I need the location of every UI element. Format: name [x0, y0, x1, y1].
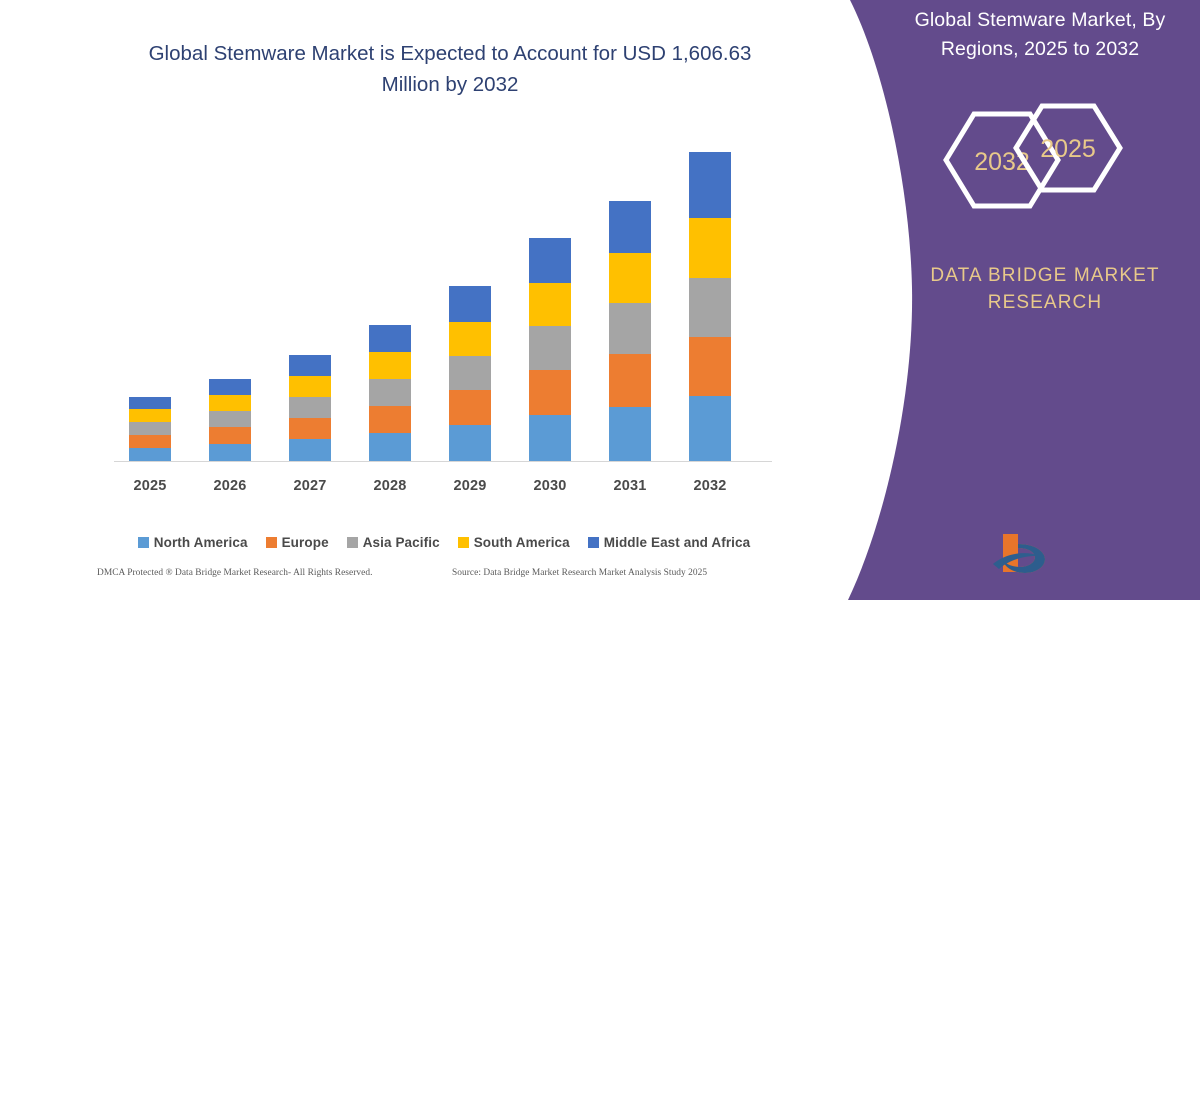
bar-2028[interactable]	[369, 325, 411, 461]
bar-segment	[449, 390, 491, 425]
bar-2029[interactable]	[449, 286, 491, 461]
legend-swatch	[458, 537, 469, 548]
bar-segment	[609, 407, 651, 461]
bar-segment	[369, 379, 411, 406]
hexagon-badges: 2032 2025	[930, 100, 1130, 230]
chart-legend: North AmericaEuropeAsia PacificSouth Ame…	[114, 531, 774, 553]
legend-label: Middle East and Africa	[604, 535, 750, 550]
infographic-canvas: Global Stemware Market is Expected to Ac…	[0, 0, 1200, 600]
logo-bridge-icon	[985, 528, 1055, 578]
bar-segment	[689, 278, 731, 337]
legend-item[interactable]: Asia Pacific	[347, 535, 440, 550]
legend-item[interactable]: Europe	[266, 535, 329, 550]
x-tick-label: 2029	[430, 478, 510, 494]
legend-swatch	[588, 537, 599, 548]
hexagon-badge-2025: 2025	[1016, 106, 1120, 190]
bar-segment	[369, 433, 411, 461]
bar-segment	[449, 322, 491, 356]
bar-segment	[129, 435, 171, 448]
bar-segment	[689, 396, 731, 461]
bar-2030[interactable]	[529, 238, 571, 461]
bar-segment	[289, 439, 331, 461]
x-axis-labels: 20252026202720282029203020312032	[0, 478, 790, 502]
bar-segment	[529, 415, 571, 461]
panel-title: Global Stemware Market, By Regions, 2025…	[890, 6, 1190, 64]
brand-line-1: DATA BRIDGE MARKET	[900, 262, 1190, 289]
bar-segment	[529, 326, 571, 370]
bar-segment	[369, 406, 411, 433]
legend-label: South America	[474, 535, 570, 550]
bar-chart: 20252026202720282029203020312032	[0, 0, 790, 600]
bar-2026[interactable]	[209, 379, 251, 461]
legend-swatch	[138, 537, 149, 548]
bar-segment	[609, 201, 651, 253]
x-tick-label: 2028	[350, 478, 430, 494]
company-logo: DATA BRIDGE MARKET RESEARCH	[985, 528, 1175, 578]
bar-segment	[689, 152, 731, 218]
legend-label: North America	[154, 535, 248, 550]
legend-item[interactable]: Middle East and Africa	[588, 535, 750, 550]
bar-segment	[209, 379, 251, 395]
x-tick-label: 2025	[110, 478, 190, 494]
legend-label: Asia Pacific	[363, 535, 440, 550]
bar-segment	[529, 370, 571, 415]
bar-segment	[129, 409, 171, 422]
bar-segment	[209, 411, 251, 427]
bar-segment	[129, 422, 171, 435]
legend-label: Europe	[282, 535, 329, 550]
bar-2027[interactable]	[289, 355, 331, 461]
legend-item[interactable]: South America	[458, 535, 570, 550]
bar-segment	[609, 253, 651, 303]
bar-segment	[449, 356, 491, 390]
bar-segment	[369, 325, 411, 352]
footer: DMCA Protected ® Data Bridge Market Rese…	[0, 566, 790, 588]
x-tick-label: 2030	[510, 478, 590, 494]
x-tick-label: 2027	[270, 478, 350, 494]
brand-line-2: RESEARCH	[900, 289, 1190, 316]
legend-swatch	[347, 537, 358, 548]
bar-segment	[289, 397, 331, 418]
bar-segment	[129, 397, 171, 409]
bar-segment	[449, 425, 491, 461]
bar-segment	[209, 427, 251, 444]
legend-item[interactable]: North America	[138, 535, 248, 550]
bar-segment	[289, 376, 331, 397]
brand-name: DATA BRIDGE MARKET RESEARCH	[900, 262, 1190, 316]
bar-segment	[289, 418, 331, 439]
bar-segment	[209, 444, 251, 461]
bar-2031[interactable]	[609, 201, 651, 461]
bar-segment	[129, 448, 171, 461]
bar-segment	[529, 238, 571, 283]
bar-segment	[689, 337, 731, 396]
bar-segment	[609, 354, 651, 407]
legend-swatch	[266, 537, 277, 548]
bar-segment	[369, 352, 411, 379]
bar-segment	[689, 218, 731, 278]
bar-segment	[289, 355, 331, 376]
footer-copyright: DMCA Protected ® Data Bridge Market Rese…	[97, 568, 372, 578]
x-tick-label: 2031	[590, 478, 670, 494]
bar-segment	[209, 395, 251, 411]
x-tick-label: 2032	[670, 478, 750, 494]
x-tick-label: 2026	[190, 478, 270, 494]
bar-2025[interactable]	[129, 397, 171, 461]
x-axis-line	[114, 461, 772, 462]
svg-text:2025: 2025	[1040, 135, 1096, 163]
footer-source: Source: Data Bridge Market Research Mark…	[452, 568, 707, 578]
bar-segment	[449, 286, 491, 322]
bar-2032[interactable]	[689, 152, 731, 461]
bar-segment	[529, 283, 571, 326]
bar-segment	[609, 303, 651, 354]
